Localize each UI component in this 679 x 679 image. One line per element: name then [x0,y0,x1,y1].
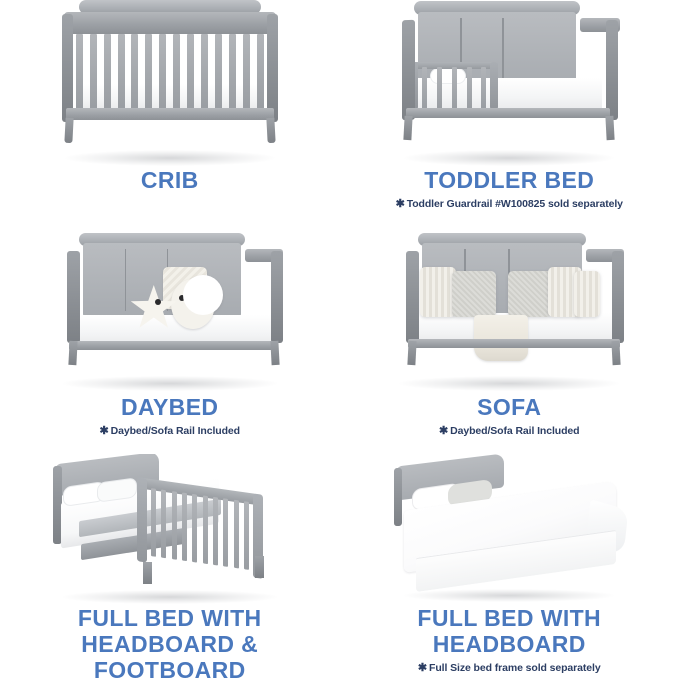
toddler-bed-shadow [404,150,614,166]
daybed-post-left [67,251,80,343]
daybed-furniture [45,227,295,375]
daybed-caption: DAYBED ✱Daybed/Sofa Rail Included [0,395,340,437]
asterisk-icon: ✱ [439,425,448,437]
toddler-bed-post-left [402,20,415,120]
crib-post-left [62,14,73,122]
full-bed-hb-note: ✱Full Size bed frame sold separately [346,661,674,674]
crib-leg-left [64,118,73,143]
crib-illustration [0,0,340,168]
sofa-leg-left [408,341,417,365]
toddler-bed-leg-left [404,116,413,140]
full-bed-hb-shadow [404,589,614,602]
config-option-sofa[interactable]: SOFA ✱Daybed/Sofa Rail Included [340,227,679,454]
sofa-pillow-5 [574,271,600,317]
daybed-pillow-moon [171,279,215,329]
sofa-throw-blanket [474,315,528,361]
full-bed-hf-caption: FULL BED WITH HEADBOARD & FOOTBOARD ✱Ful… [0,606,340,679]
full-bed-hb-headboard-post [394,468,402,526]
sofa-note-text: Daybed/Sofa Rail Included [450,425,579,437]
sofa-post-left [406,251,419,343]
toddler-bed-note: ✱Toddler Guardrail #W100825 sold separat… [346,197,674,210]
sofa-caption: SOFA ✱Daybed/Sofa Rail Included [340,395,679,437]
full-bed-hf-footboard [137,477,263,579]
full-bed-hb-title: FULL BED WITH HEADBOARD [346,606,674,658]
sofa-bottom-rail [408,339,620,348]
config-option-daybed[interactable]: DAYBED ✱Daybed/Sofa Rail Included [0,227,340,454]
daybed-star-eye [155,299,161,305]
sofa-post-right [612,251,624,343]
daybed-note-text: Daybed/Sofa Rail Included [111,425,240,437]
full-bed-hb-note-text: Full Size bed frame sold separately [429,662,601,674]
conversion-options-grid: CRIB [0,0,679,679]
daybed-shadow [62,376,277,391]
sofa-illustration [340,227,679,395]
toddler-bed-title: TODDLER BED [346,168,674,194]
toddler-bed-caption: TODDLER BED ✱Toddler Guardrail #W100825 … [340,168,679,210]
full-bed-hb-caption: FULL BED WITH HEADBOARD ✱Full Size bed f… [340,606,679,674]
daybed-leg-right [270,341,279,365]
crib-post-right [267,14,278,122]
sofa-title: SOFA [346,395,674,421]
full-bed-hf-footboard-slats [151,488,249,570]
full-bed-hb-furniture [382,454,636,590]
sofa-pillow-1 [420,267,456,317]
asterisk-icon: ✱ [100,425,109,437]
crib-headboard [64,12,276,34]
crib-shadow [65,150,275,166]
asterisk-icon: ✱ [418,662,427,674]
full-bed-hf-leg-front [143,562,152,584]
toddler-bed-post-right [606,20,618,120]
daybed-title: DAYBED [6,395,334,421]
toddler-bed-bottom-rail [406,108,610,118]
crib-furniture [46,0,294,148]
toddler-bed-guardrail [410,62,498,110]
daybed-illustration [0,227,340,395]
asterisk-icon: ✱ [396,198,405,210]
sofa-pillow-2 [452,271,496,317]
config-option-full-bed-headboard-footboard[interactable]: FULL BED WITH HEADBOARD & FOOTBOARD ✱Ful… [0,454,340,679]
full-bed-hf-title: FULL BED WITH HEADBOARD & FOOTBOARD [6,606,334,679]
toddler-bed-note-text: Toddler Guardrail #W100825 sold separate… [407,198,623,210]
daybed-leg-left [68,341,77,365]
crib-bottom-rail [66,108,274,120]
daybed-post-right [271,251,283,343]
full-bed-hf-leg-back [255,556,264,578]
config-option-toddler-bed[interactable]: TODDLER BED ✱Toddler Guardrail #W100825 … [340,0,679,227]
crib-leg-right [266,118,275,143]
sofa-note: ✱Daybed/Sofa Rail Included [346,424,674,437]
sofa-pillow-3 [508,271,552,317]
sofa-leg-right [612,341,621,365]
crib-caption: CRIB [0,168,340,194]
daybed-bottom-rail [69,341,277,350]
sofa-shadow [399,376,619,391]
daybed-note: ✱Daybed/Sofa Rail Included [6,424,334,437]
crib-slats [76,34,264,110]
full-bed-headboard-illustration [340,454,679,606]
full-bed-hf-furniture [41,454,299,590]
toddler-bed-guardrail-slats [422,67,486,109]
full-bed-headboard-footboard-illustration [0,454,340,606]
toddler-bed-furniture [384,0,634,148]
config-option-crib[interactable]: CRIB [0,0,340,227]
config-option-full-bed-headboard[interactable]: FULL BED WITH HEADBOARD ✱Full Size bed f… [340,454,679,679]
full-bed-hf-shadow [62,590,277,604]
sofa-furniture [382,227,636,375]
toddler-bed-leg-right [606,116,615,140]
toddler-bed-illustration [340,0,679,168]
crib-title: CRIB [6,168,334,194]
